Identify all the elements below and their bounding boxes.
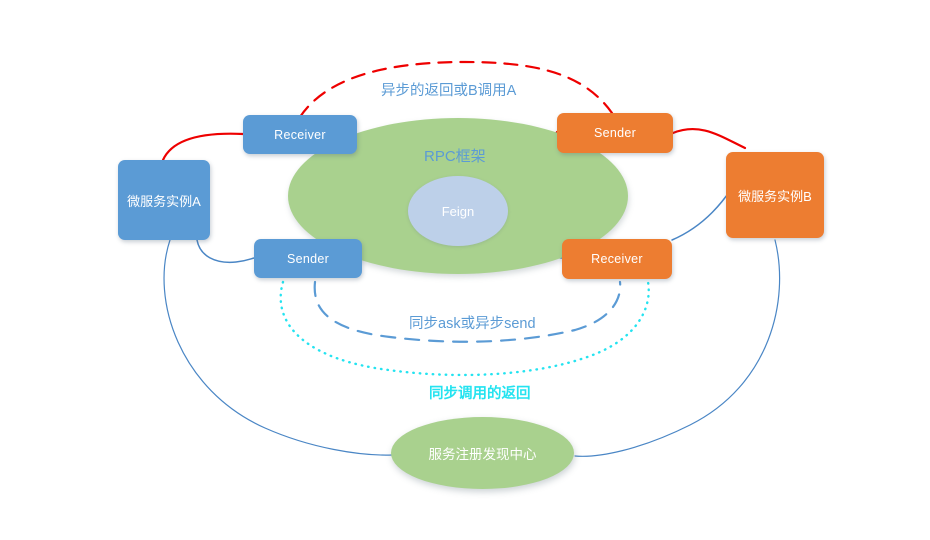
node-service-b-label: 微服务实例B bbox=[738, 186, 812, 205]
node-sender-left-label: Sender bbox=[287, 252, 329, 266]
node-service-a[interactable]: 微服务实例A bbox=[118, 160, 210, 240]
edge-red-sender-to-b bbox=[673, 129, 745, 148]
node-sender-left[interactable]: Sender bbox=[254, 239, 362, 278]
label-sync-ask-async-send: 同步ask或异步send bbox=[409, 312, 536, 333]
feign-ellipse: Feign bbox=[408, 176, 508, 246]
node-receiver-right-label: Receiver bbox=[591, 252, 643, 266]
node-registry-label: 服务注册发现中心 bbox=[429, 443, 537, 463]
node-registry[interactable]: 服务注册发现中心 bbox=[391, 417, 574, 489]
label-sync-return: 同步调用的返回 bbox=[429, 382, 531, 403]
diagram-canvas: RPC框架 Feign 微服务实例A 微服务实例B Receiver Sende… bbox=[0, 0, 930, 540]
edge-blue-a-to-sender bbox=[197, 240, 254, 262]
node-sender-right[interactable]: Sender bbox=[557, 113, 673, 153]
node-receiver-left-label: Receiver bbox=[274, 128, 326, 142]
node-service-a-label: 微服务实例A bbox=[127, 191, 201, 210]
node-sender-right-label: Sender bbox=[594, 126, 636, 140]
node-service-b[interactable]: 微服务实例B bbox=[726, 152, 824, 238]
node-receiver-right[interactable]: Receiver bbox=[562, 239, 672, 279]
node-receiver-left[interactable]: Receiver bbox=[243, 115, 357, 154]
feign-label: Feign bbox=[442, 204, 475, 219]
rpc-framework-label: RPC框架 bbox=[424, 145, 486, 166]
label-async-return: 异步的返回或B调用A bbox=[381, 79, 516, 100]
edge-red-a-to-receiver bbox=[163, 134, 243, 160]
